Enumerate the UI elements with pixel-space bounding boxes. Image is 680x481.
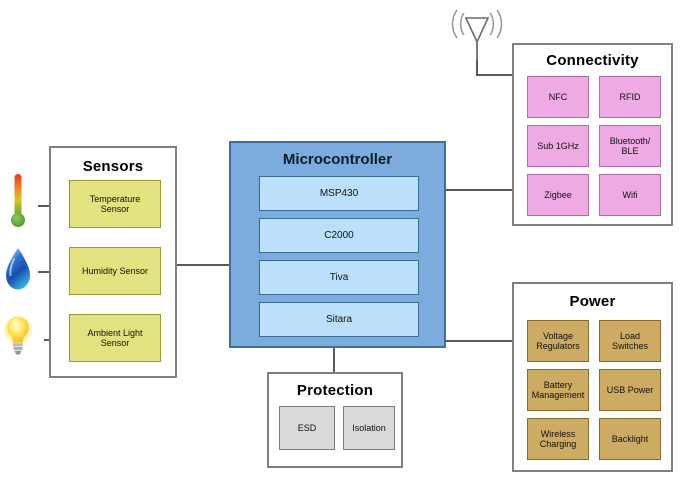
power-load-line2: Switches	[612, 341, 648, 351]
conn-rfid-label: RFID	[620, 92, 641, 102]
mcu-tiva-label: Tiva	[330, 272, 349, 284]
mcu-sitara-label: Sitara	[326, 314, 352, 326]
power-block-load-switches[interactable]: Load Switches	[599, 320, 661, 362]
power-block-wireless-charging[interactable]: Wireless Charging	[527, 418, 589, 460]
protection-block-esd[interactable]: ESD	[279, 406, 335, 450]
sensors-panel: Sensors Temperature Sensor Humidity Sens…	[49, 146, 177, 378]
connectivity-block-wifi[interactable]: Wifi	[599, 174, 661, 216]
conn-bluetooth-line1: Bluetooth/	[610, 136, 651, 146]
protection-isolation-label: Isolation	[352, 423, 386, 433]
thermometer-icon	[7, 172, 29, 230]
water-droplet-icon	[4, 247, 32, 291]
power-block-backlight[interactable]: Backlight	[599, 418, 661, 460]
wire-sensors-to-microcontroller	[177, 264, 229, 266]
connectivity-title: Connectivity	[514, 52, 671, 69]
power-block-battery-management[interactable]: Battery Management	[527, 369, 589, 411]
mcu-block-c2000[interactable]: C2000	[259, 218, 419, 253]
sensor-ambient-line2: Sensor	[87, 338, 142, 348]
power-title: Power	[514, 293, 671, 310]
connectivity-block-sub-1ghz[interactable]: Sub 1GHz	[527, 125, 589, 167]
power-battery-line2: Management	[532, 390, 585, 400]
power-backlight-label: Backlight	[612, 434, 649, 444]
sensor-temperature-line1: Temperature	[90, 194, 141, 204]
protection-esd-label: ESD	[298, 423, 317, 433]
power-block-usb-power[interactable]: USB Power	[599, 369, 661, 411]
diagram-canvas: Sensors Temperature Sensor Humidity Sens…	[0, 0, 680, 481]
conn-zigbee-label: Zigbee	[544, 190, 572, 200]
power-voltage-line2: Regulators	[536, 341, 580, 351]
sensor-humidity-line1: Humidity Sensor	[82, 266, 148, 276]
mcu-block-sitara[interactable]: Sitara	[259, 302, 419, 337]
protection-panel: Protection ESD Isolation	[267, 372, 403, 468]
power-block-voltage-regulators[interactable]: Voltage Regulators	[527, 320, 589, 362]
connectivity-block-bluetooth-ble[interactable]: Bluetooth/ BLE	[599, 125, 661, 167]
sensor-block-ambient-light[interactable]: Ambient Light Sensor	[69, 314, 161, 362]
power-panel: Power Voltage Regulators Load Switches B…	[512, 282, 673, 472]
power-load-line1: Load	[612, 331, 648, 341]
connectivity-block-zigbee[interactable]: Zigbee	[527, 174, 589, 216]
connectivity-block-nfc[interactable]: NFC	[527, 76, 589, 118]
mcu-block-tiva[interactable]: Tiva	[259, 260, 419, 295]
sensor-block-temperature[interactable]: Temperature Sensor	[69, 180, 161, 228]
mcu-c2000-label: C2000	[324, 230, 353, 242]
connectivity-panel: Connectivity NFC RFID Sub 1GHz Bluetooth…	[512, 43, 673, 226]
wire-microcontroller-to-power	[446, 340, 514, 342]
power-battery-line1: Battery	[532, 380, 585, 390]
conn-bluetooth-line2: BLE	[610, 146, 651, 156]
power-wireless-line1: Wireless	[540, 429, 577, 439]
mcu-msp430-label: MSP430	[320, 188, 358, 200]
wire-microcontroller-to-connectivity	[446, 189, 514, 191]
power-wireless-line2: Charging	[540, 439, 577, 449]
wire-microcontroller-to-protection	[333, 348, 335, 372]
microcontroller-panel: Microcontroller MSP430 C2000 Tiva Sitara	[229, 141, 446, 348]
power-voltage-line1: Voltage	[536, 331, 580, 341]
conn-sub1ghz-label: Sub 1GHz	[537, 141, 579, 151]
connectivity-block-rfid[interactable]: RFID	[599, 76, 661, 118]
sensor-block-humidity[interactable]: Humidity Sensor	[69, 247, 161, 295]
sensor-ambient-line1: Ambient Light	[87, 328, 142, 338]
power-usb-label: USB Power	[607, 385, 654, 395]
protection-block-isolation[interactable]: Isolation	[343, 406, 395, 450]
sensor-temperature-line2: Sensor	[90, 204, 141, 214]
microcontroller-title: Microcontroller	[231, 151, 444, 168]
antenna-feed-horizontal	[476, 74, 514, 76]
light-bulb-icon	[2, 313, 34, 361]
antenna-feed-vertical	[476, 60, 478, 74]
sensors-title: Sensors	[51, 158, 175, 175]
conn-wifi-label: Wifi	[623, 190, 638, 200]
mcu-block-msp430[interactable]: MSP430	[259, 176, 419, 211]
protection-title: Protection	[269, 382, 401, 399]
conn-nfc-label: NFC	[549, 92, 568, 102]
antenna-icon	[445, 4, 509, 66]
